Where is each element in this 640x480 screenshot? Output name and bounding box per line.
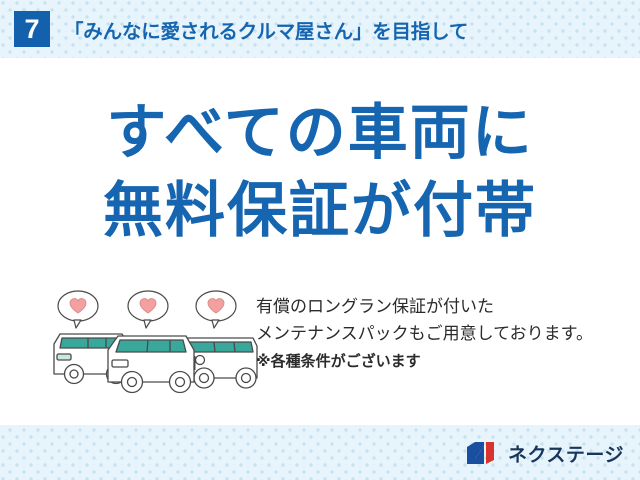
section-number-badge: 7 — [14, 11, 50, 47]
headline-line-2: 無料保証が付帯 — [0, 172, 640, 250]
car-minivan — [108, 336, 194, 393]
brand-name: ネクステージ — [508, 440, 624, 467]
headline: すべての車両に 無料保証が付帯 — [0, 94, 640, 250]
body-copy: 有償のロングラン保証が付いた メンテナンスパックもご用意しております。 ※各種条… — [256, 294, 636, 375]
cars-illustration-svg — [48, 286, 263, 406]
header-title: 「みんなに愛されるクルマ屋さん」を目指して — [64, 15, 468, 44]
body-line-1: 有償のロングラン保証が付いた — [256, 294, 636, 321]
banner-header: 7 「みんなに愛されるクルマ屋さん」を目指して — [0, 0, 640, 58]
lower-section: 有償のロングラン保証が付いた メンテナンスパックもご用意しております。 ※各種条… — [0, 286, 640, 425]
advertisement-banner: 7 「みんなに愛されるクルマ屋さん」を目指して すべての車両に 無料保証が付帯 — [0, 0, 640, 480]
headline-line-1: すべての車両に — [0, 94, 640, 172]
body-line-2: メンテナンスパックもご用意しております。 — [256, 321, 636, 348]
body-disclaimer: ※各種条件がございます — [256, 348, 636, 375]
brand-logo: ネクステージ — [466, 438, 624, 468]
nextage-n-mark-icon — [466, 440, 500, 466]
content-card: すべての車両に 無料保証が付帯 — [0, 58, 640, 425]
cars-illustration — [48, 286, 263, 406]
